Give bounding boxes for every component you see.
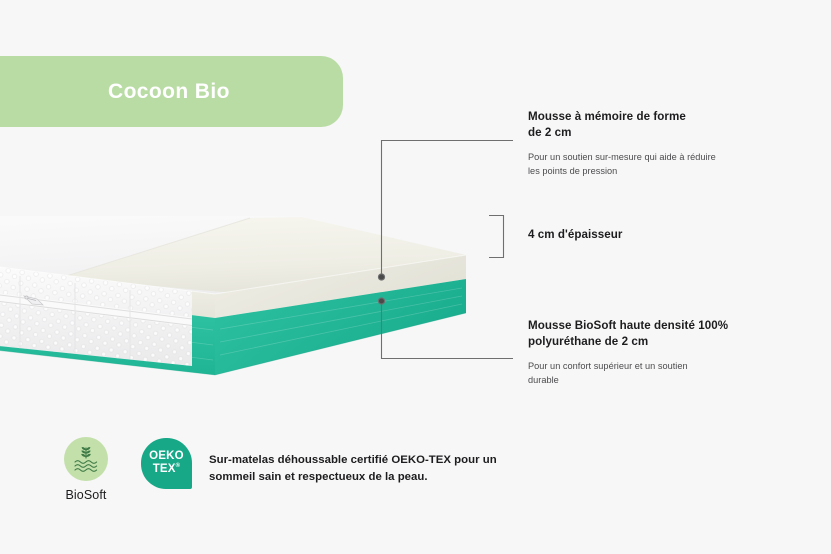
leader-line-biosoft-foam [382, 301, 514, 359]
biosoft-badge: BioSoft [58, 437, 114, 502]
callout-subtitle: Pour un confort supérieur et un soutien … [528, 360, 783, 388]
callout-biosoft-foam: Mousse BioSoft haute densité 100% polyur… [528, 318, 783, 388]
oeko-tex-badge: OEKO TEX® [141, 438, 192, 489]
callout-subtitle: Pour un soutien sur-mesure qui aide à ré… [528, 151, 783, 179]
leaf-waves-icon [73, 445, 99, 473]
oeko-tex-line1: OEKO [149, 451, 184, 463]
callout-memory-foam: Mousse à mémoire de forme de 2 cm Pour u… [528, 109, 783, 179]
callout-thickness: 4 cm d'épaisseur [528, 227, 783, 243]
leader-dot-memory-foam [378, 274, 384, 280]
infographic-canvas: Cocoon Bio [0, 0, 831, 554]
registered-mark: ® [176, 463, 181, 469]
callout-title: 4 cm d'épaisseur [528, 227, 783, 243]
callout-title: Mousse BioSoft haute densité 100% polyur… [528, 318, 783, 351]
oeko-tex-line2: TEX® [153, 463, 181, 476]
certification-footer: BioSoft OEKO TEX® Sur-matelas déhoussabl… [0, 430, 831, 520]
leader-line-memory-foam [382, 141, 514, 278]
callout-title: Mousse à mémoire de forme de 2 cm [528, 109, 783, 142]
leader-dot-biosoft-foam [378, 298, 384, 304]
certification-text: Sur-matelas déhoussable certifié OEKO-TE… [209, 452, 529, 485]
biosoft-badge-label: BioSoft [58, 488, 114, 502]
biosoft-badge-circle [64, 437, 108, 481]
oeko-tex-badge-shape: OEKO TEX® [141, 438, 192, 489]
thickness-bracket [489, 216, 504, 258]
